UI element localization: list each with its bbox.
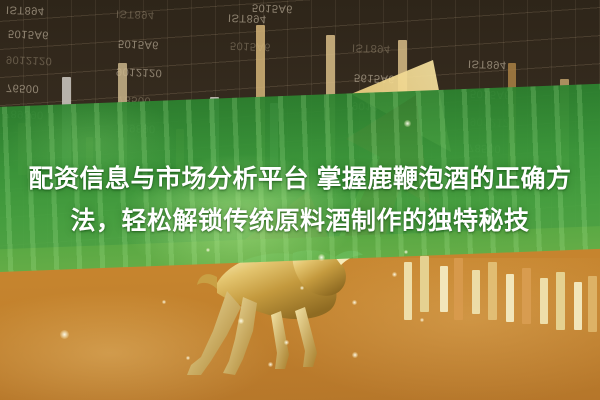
ticker-number: 76500	[6, 81, 39, 94]
gold-area-bar	[472, 270, 480, 314]
gold-area-bar	[574, 282, 582, 330]
gold-area-bar	[588, 276, 597, 332]
gold-area-bar	[540, 278, 548, 324]
ticker-number: IST894	[352, 41, 391, 54]
headline-line-2: 法，轻松解锁传统原料酒制作的独特秘技	[0, 200, 600, 242]
gold-area-bar	[556, 272, 565, 330]
ticker-number: 5015A6	[8, 27, 49, 40]
page-title: 配资信息与市场分析平台 掌握鹿鞭泡酒的正确方 法，轻松解锁传统原料酒制作的独特秘…	[0, 158, 600, 242]
gold-area-bar	[420, 256, 429, 312]
ticker-number: IST894	[228, 11, 267, 24]
ticker-number: IST894	[116, 7, 155, 20]
gold-area-bar	[506, 274, 514, 322]
ticker-number: IST894	[6, 3, 45, 16]
headline-line-1: 配资信息与市场分析平台 掌握鹿鞭泡酒的正确方	[0, 158, 600, 200]
gold-area-bar	[488, 262, 497, 320]
promo-banner: IST8945015A6901212076500789890IST8945015…	[0, 0, 600, 400]
gold-area-bar	[522, 268, 531, 324]
ticker-number: 5015A6	[118, 37, 159, 50]
gold-area-bar	[404, 262, 412, 320]
gold-area-bar	[454, 258, 463, 320]
ticker-number: 9012120	[6, 53, 53, 67]
gold-area-bar	[440, 266, 448, 312]
